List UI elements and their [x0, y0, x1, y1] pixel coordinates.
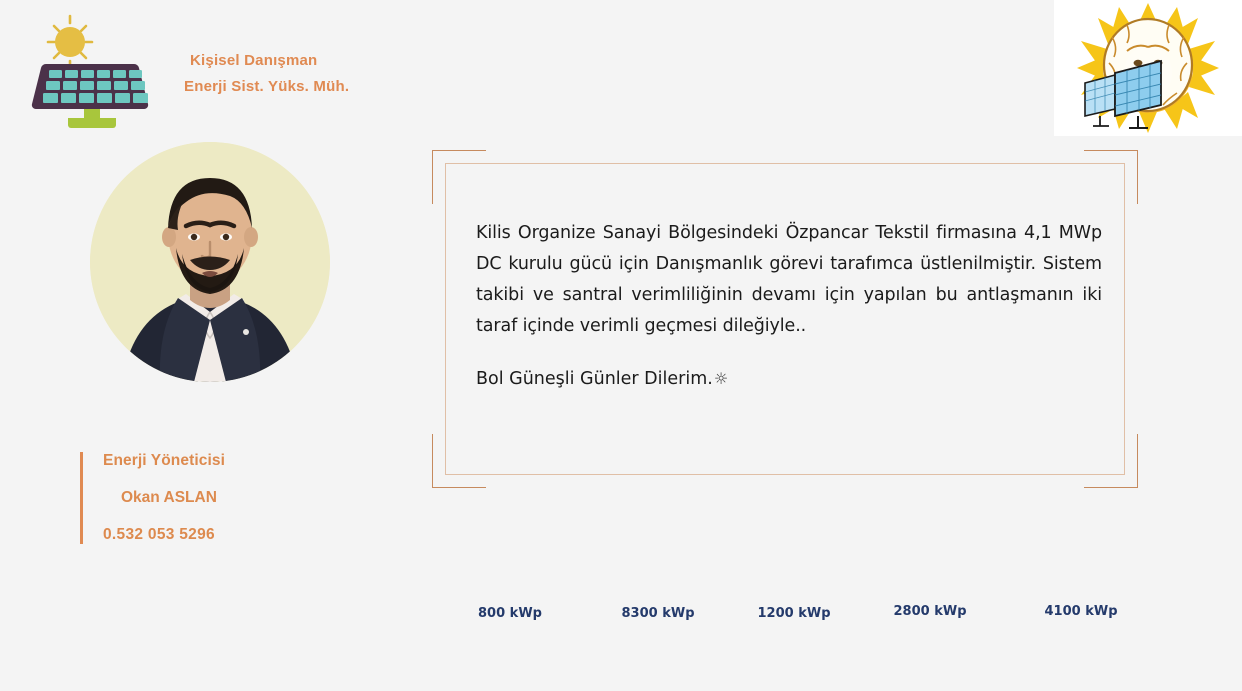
client-item-ozpancar: ÖZPANCAR İplik Tekstil Sanayi ve Ticaret… — [1006, 536, 1156, 619]
brand-text: Kişisel Danışman Enerji Sist. Yüks. Müh. — [184, 46, 349, 95]
message-closing: Bol Güneşli Günler Dilerim. ☼ — [476, 369, 1102, 389]
brand-tagline-title: Enerji Sist. Yüks. Müh. — [184, 78, 349, 95]
client-item-anpa: AN PA PANEL & ENERJİ A.Ş. PANEL & ENERGY… — [734, 536, 854, 621]
company-logo — [1054, 0, 1242, 136]
message-paragraph: Kilis Organize Sanayi Bölgesindeki Özpan… — [476, 218, 1102, 343]
brand-block: Kişisel Danışman Enerji Sist. Yüks. Müh. — [22, 8, 349, 133]
message-closing-text: Bol Güneşli Günler Dilerim. — [476, 369, 713, 389]
client-capacity: 1200 kWp — [758, 606, 831, 621]
client-capacity: 4100 kWp — [1045, 604, 1118, 619]
contact-phone: 0.532 053 5296 — [103, 526, 225, 544]
client-item-sonmez: saglam collection SP Think to Live SÖNME… — [598, 536, 718, 621]
contact-role: Enerji Yöneticisi — [103, 452, 225, 470]
contact-block: Enerji Yöneticisi Okan ASLAN 0.532 053 5… — [80, 452, 225, 544]
client-logo-strip: BÜYÜKŞEHİR GAZİANTEP 800 kWp saglam coll… — [440, 536, 1160, 646]
avatar — [90, 142, 330, 382]
client-capacity: 800 kWp — [478, 606, 542, 621]
message-panel: Kilis Organize Sanayi Bölgesindeki Özpan… — [432, 150, 1138, 488]
header-bar: Kişisel Danışman Enerji Sist. Yüks. Müh. — [0, 0, 1242, 140]
client-capacity: 8300 kWp — [622, 606, 695, 621]
contact-name: Okan ASLAN — [103, 489, 225, 507]
message-body: Kilis Organize Sanayi Bölgesindeki Özpan… — [476, 218, 1102, 389]
brand-tagline-role: Kişisel Danışman — [184, 52, 349, 69]
sun-icon: ☼ — [714, 371, 728, 387]
client-item-gaziantep: BÜYÜKŞEHİR GAZİANTEP 800 kWp — [440, 536, 580, 621]
client-item-bozatli: BOZATLI TEKSTİL 2800 kWp — [870, 536, 990, 619]
solar-panel-icon — [22, 8, 162, 133]
client-capacity: 2800 kWp — [894, 604, 967, 619]
